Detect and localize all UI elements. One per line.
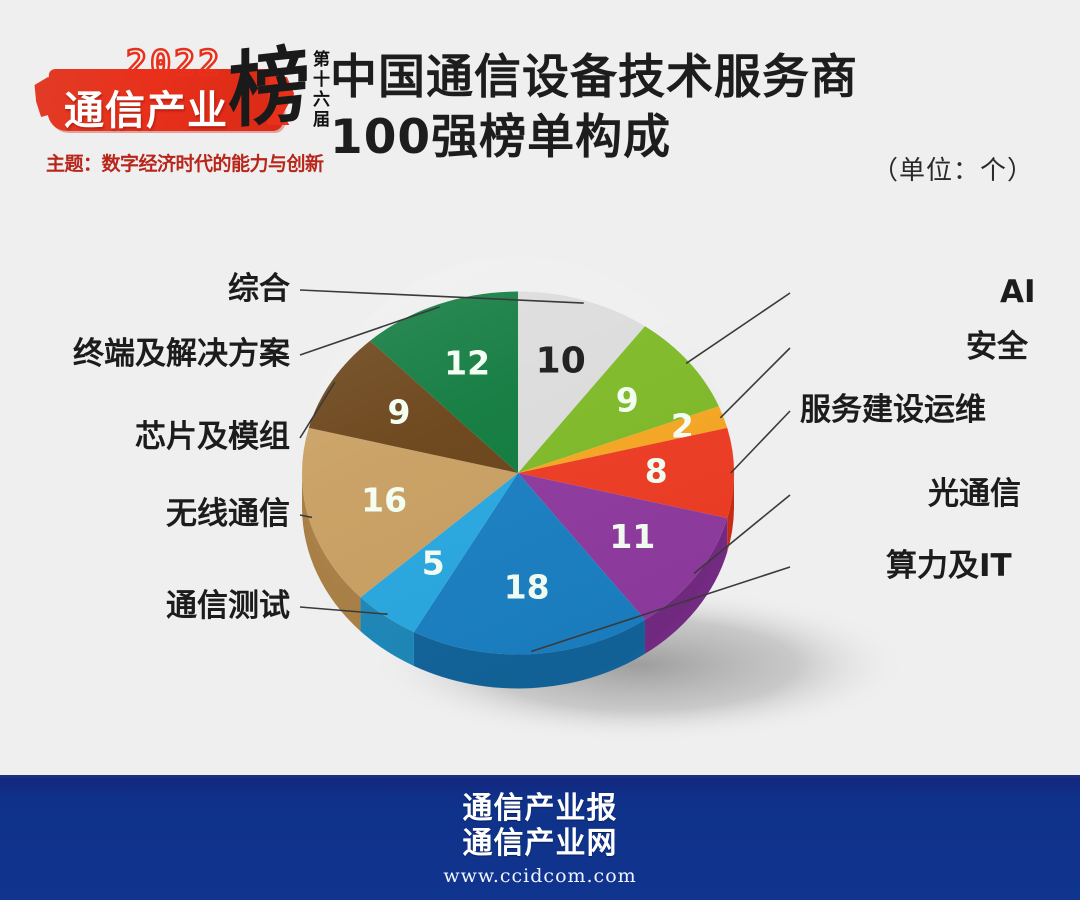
- footer-line-2: 通信产业网: [463, 826, 618, 861]
- leader-line: [686, 293, 790, 363]
- leader-line: [731, 411, 790, 473]
- category-label-无线通信: 无线通信: [166, 499, 290, 530]
- logo-subtitle: 主题：数字经济时代的能力与创新: [46, 149, 324, 176]
- footer-banner: 通信产业报 通信产业网 www.ccidcom.com: [0, 775, 1080, 900]
- pie-slice-value: 8: [645, 452, 668, 491]
- logo-calligraphy-char: 榜: [228, 48, 310, 131]
- unit-note: （单位：个）: [872, 150, 1034, 187]
- page-title: 中国通信设备技术服务商 100强榜单构成: [330, 48, 858, 168]
- title-line-1: 中国通信设备技术服务商: [330, 48, 858, 108]
- pie-slice-value: 9: [616, 380, 639, 419]
- category-label-安全: 安全: [966, 332, 1028, 363]
- category-label-终端及解决方案: 终端及解决方案: [73, 339, 290, 370]
- pie-slice-value: 10: [536, 341, 586, 382]
- category-label-服务建设运维: 服务建设运维: [800, 395, 986, 426]
- pie-slice-value: 5: [422, 543, 445, 582]
- footer-line-1: 通信产业报: [463, 791, 618, 826]
- pie-slice-value: 16: [361, 480, 407, 519]
- pie-slice-value: 11: [609, 517, 655, 556]
- category-label-芯片及模组: 芯片及模组: [135, 422, 290, 453]
- pie-slice-value: 9: [388, 392, 411, 431]
- pie-slice-value: 18: [504, 567, 550, 606]
- footer-url[interactable]: www.ccidcom.com: [443, 865, 636, 887]
- category-label-算力及IT: 算力及IT: [886, 551, 1012, 582]
- pie-chart: 109281118516912: [0, 215, 1080, 775]
- category-label-光通信: 光通信: [928, 479, 1021, 510]
- category-label-AI: AI: [1000, 277, 1036, 308]
- award-logo: 2022 通信产业 榜 第十六届 主题：数字经济时代的能力与创新: [38, 44, 338, 194]
- title-line-2: 100强榜单构成: [330, 108, 858, 168]
- leader-line: [720, 348, 790, 418]
- pie-slice-value: 12: [444, 344, 490, 383]
- header: 2022 通信产业 榜 第十六届 主题：数字经济时代的能力与创新 中国通信设备技…: [0, 0, 1080, 215]
- logo-main-text: 通信产业: [64, 78, 228, 136]
- logo-edition-text: 第十六届: [302, 50, 332, 130]
- category-label-综合: 综合: [228, 274, 290, 305]
- pie-chart-area: 109281118516912 综合终端及解决方案芯片及模组无线通信通信测试AI…: [0, 215, 1080, 775]
- pie-top-faces: 109281118516912: [302, 292, 734, 655]
- category-label-通信测试: 通信测试: [166, 591, 290, 622]
